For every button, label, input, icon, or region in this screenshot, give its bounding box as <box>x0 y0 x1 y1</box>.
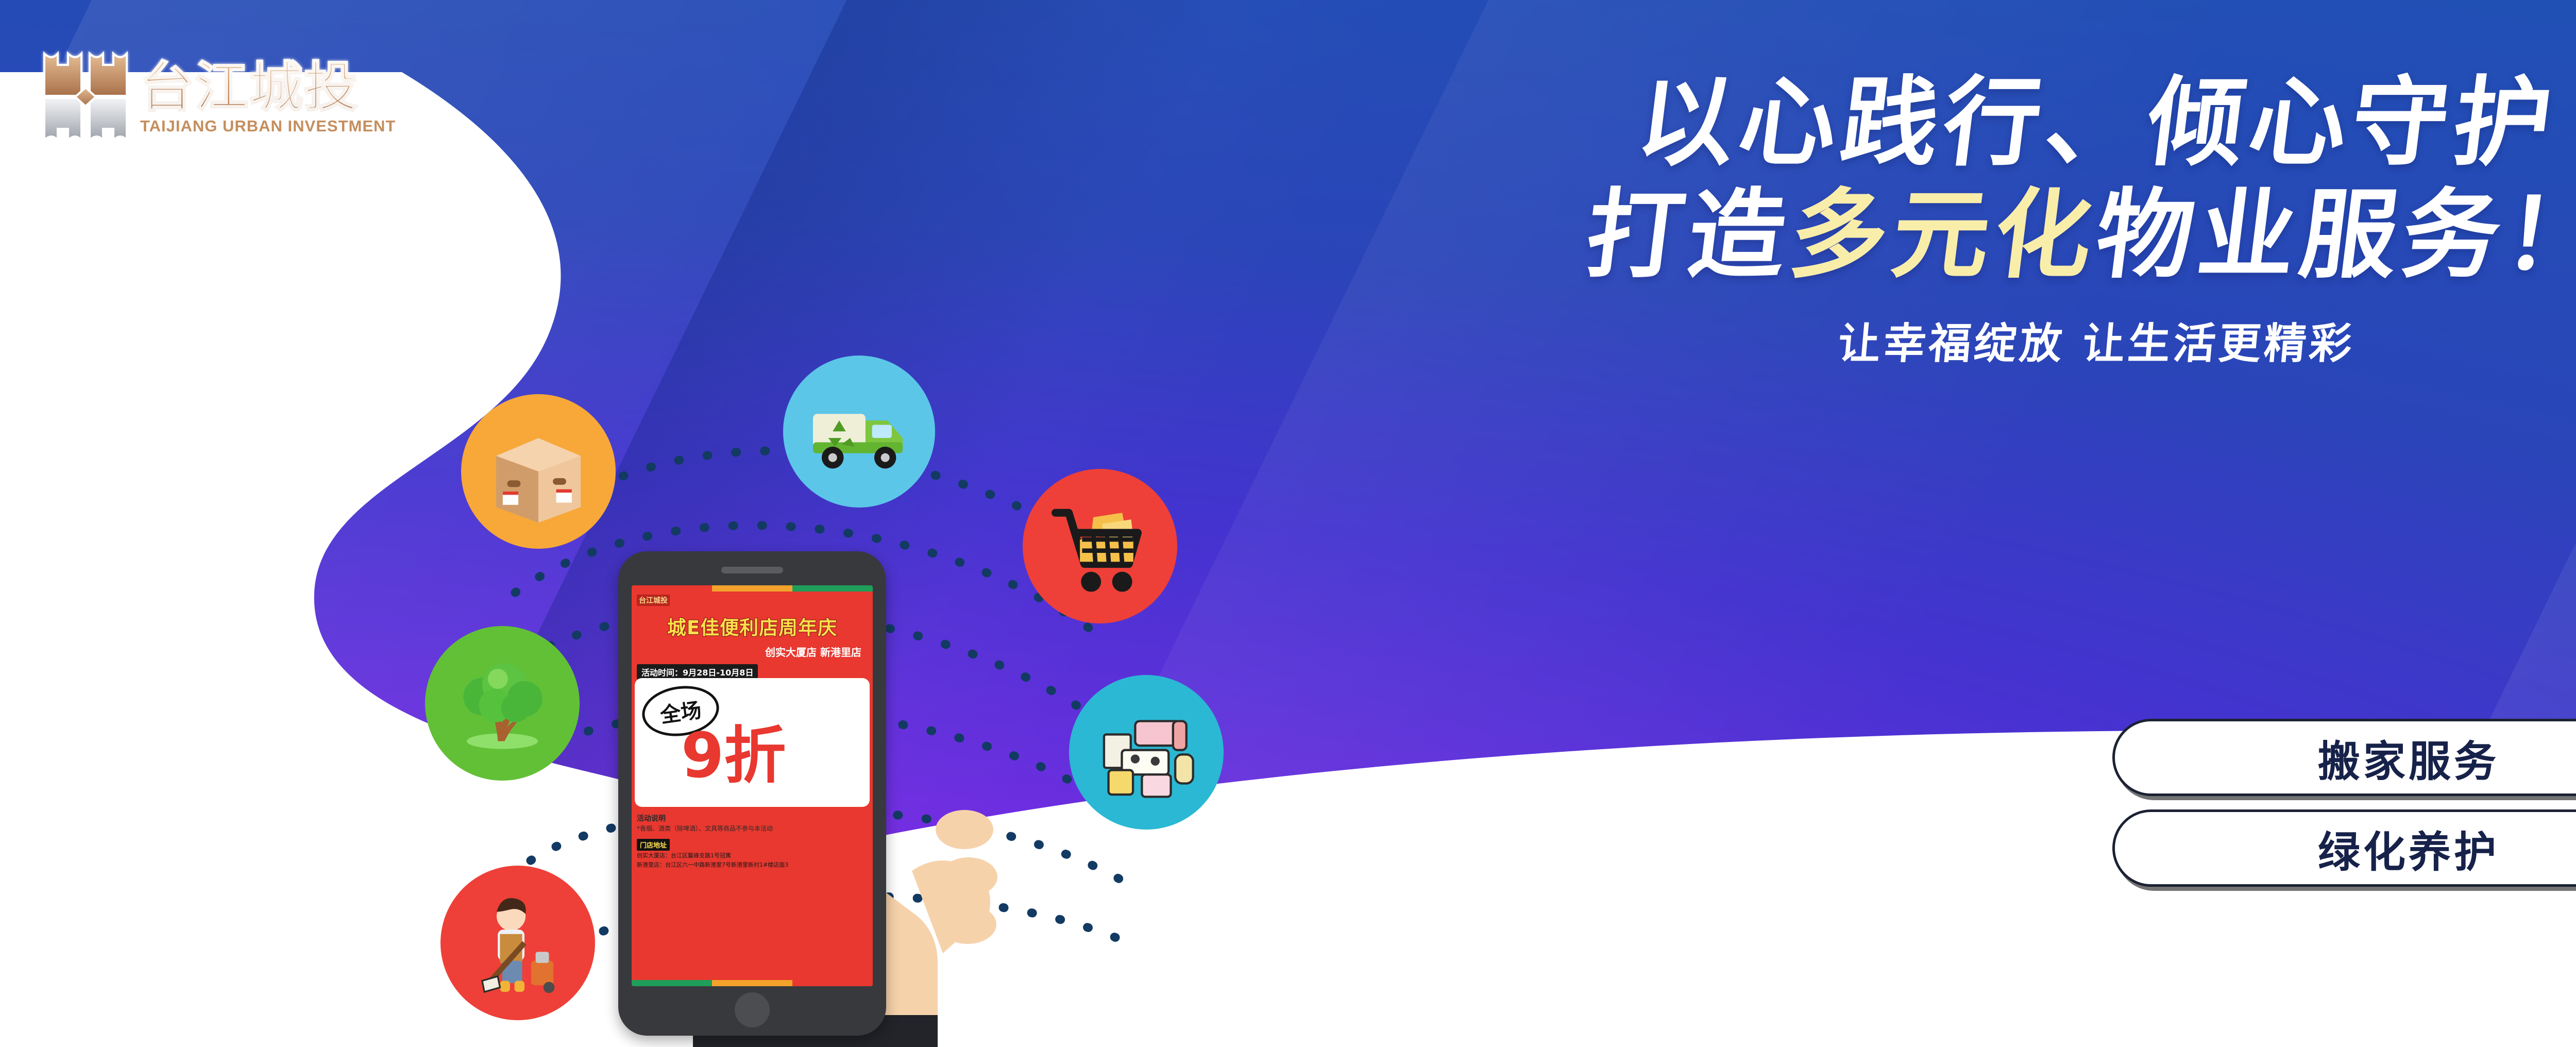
logo-wordmark: 台江城投 TAIJIANG URBAN INVESTMENT <box>140 60 396 134</box>
poster-note-heading: 活动说明 <box>637 813 868 823</box>
poster-body: 台江城投 城E佳便利店周年庆 创实大厦店 新港里店 活动时间：9月28日-10月… <box>632 592 873 980</box>
headline-line2-accent: 多元化 <box>1784 179 2104 292</box>
tree-icon <box>425 626 580 781</box>
poster-stores: 创实大厦店 新港里店 <box>637 644 868 659</box>
headline-subtitle: 让幸福绽放 让生活更精彩 <box>1188 309 2576 370</box>
headline-line2-suffix: 物业服务！ <box>2090 179 2576 292</box>
poster-bottom-stripe <box>632 980 873 986</box>
phone-speaker <box>721 567 783 573</box>
headline-line-1: 以心践行、倾心守护 <box>1183 67 2576 179</box>
headline-line2-prefix: 打造 <box>1580 179 1798 292</box>
service-pill-grid: 搬家服务 商品零售 家政服务 绿化养护 停车服务 环境卫生 <box>2112 719 2576 887</box>
poster-address-line-2: 新港里店：台江区六一中路新港里7号新港里新村1#楼店面3 <box>637 862 868 869</box>
poster-discount: 9折 <box>681 725 786 787</box>
smartphone-device: 台江城投 城E佳便利店周年庆 创实大厦店 新港里店 活动时间：9月28日-10月… <box>618 551 886 1036</box>
poster-brand-tag: 台江城投 <box>637 595 670 606</box>
taijiang-logo-mark <box>40 46 131 147</box>
headline-line-2: 打造多元化物业服务！ <box>1183 179 2576 292</box>
logo-english-name: TAIJIANG URBAN INVESTMENT <box>140 118 396 134</box>
property-service-banner: 台江城投 TAIJIANG URBAN INVESTMENT 以心践行、倾心守护… <box>0 0 2576 1047</box>
poster-orange-panel <box>632 863 873 974</box>
poster-note-body: *香烟、酒类（除啤酒）、文具等商品不参与本活动 <box>637 825 868 833</box>
service-pill-landscaping[interactable]: 绿化养护 <box>2112 809 2576 887</box>
poster-white-panel: 全场 9折 <box>635 678 870 807</box>
service-pill-label: 绿化养护 <box>2318 818 2499 879</box>
poster-address-heading: 门店地址 <box>637 839 670 851</box>
cleaner-icon <box>440 866 595 1020</box>
service-pill-label: 搬家服务 <box>2318 727 2499 788</box>
poster-address-line-1: 创实大厦店：台江区鳌峰支路1号冠寓 <box>637 852 868 860</box>
moving-box-icon <box>461 394 616 549</box>
promo-poster: 台江城投 城E佳便利店周年庆 创实大厦店 新港里店 活动时间：9月28日-10月… <box>632 585 873 986</box>
mobile-shopping-illustration: SALE 台江城投 城E佳便利店周年庆 创实 <box>361 345 1133 1047</box>
poster-title: 城E佳便利店周年庆 <box>637 612 868 640</box>
recycling-truck-icon <box>783 356 935 508</box>
headline-block: 以心践行、倾心守护 打造多元化物业服务！ <box>1190 67 2576 292</box>
logo-chinese-name: 台江城投 <box>140 60 396 114</box>
company-logo: 台江城投 TAIJIANG URBAN INVESTMENT <box>40 46 396 147</box>
phone-home-button[interactable] <box>735 992 770 1027</box>
service-pill-moving[interactable]: 搬家服务 <box>2112 719 2576 796</box>
poster-top-stripe <box>632 585 873 592</box>
poster-note: 活动说明 *香烟、酒类（除啤酒）、文具等商品不参与本活动 门店地址 创实大厦店：… <box>637 813 868 869</box>
poster-period: 活动时间：9月28日-10月8日 <box>637 664 758 680</box>
